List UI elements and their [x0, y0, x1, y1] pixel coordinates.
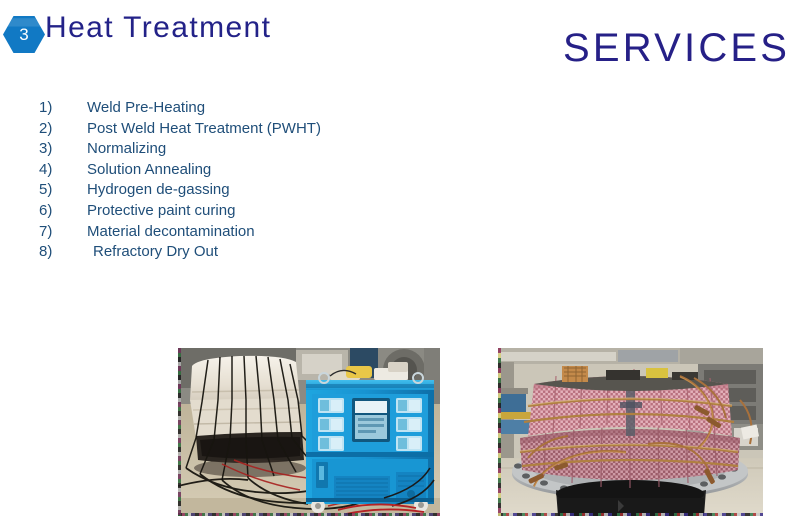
list-item-label: Protective paint curing: [87, 202, 235, 219]
list-item-marker: 4): [39, 161, 87, 178]
list-item-marker: 1): [39, 99, 87, 116]
list-item-label: Material decontamination: [87, 223, 255, 240]
list-item-label: Weld Pre-Heating: [87, 99, 205, 116]
list-item: 7)Material decontamination: [0, 223, 470, 244]
photo-ceramic-pads: [498, 348, 763, 516]
photo-pwht-unit: [178, 348, 440, 516]
list-item-marker: 6): [39, 202, 87, 219]
photo-pwht-unit-artwork: [178, 348, 440, 516]
list-item-label: Post Weld Heat Treatment (PWHT): [87, 120, 321, 137]
section-number-badge: 3: [3, 16, 45, 53]
list-item: 4)Solution Annealing: [0, 161, 470, 182]
list-item: 1)Weld Pre-Heating: [0, 99, 470, 120]
list-item: 3)Normalizing: [0, 140, 470, 161]
list-item-marker: 2): [39, 120, 87, 137]
list-item-marker: 7): [39, 223, 87, 240]
list-item-label: Normalizing: [87, 140, 166, 157]
services-list: 1)Weld Pre-Heating2)Post Weld Heat Treat…: [0, 99, 470, 264]
list-item-marker: 8): [39, 243, 87, 260]
list-item-label: Refractory Dry Out: [87, 243, 218, 260]
photo-ceramic-pads-artwork: [498, 348, 763, 516]
list-item-label: Solution Annealing: [87, 161, 211, 178]
list-item-marker: 5): [39, 181, 87, 198]
list-item: 8)Refractory Dry Out: [0, 243, 470, 264]
list-item: 6)Protective paint curing: [0, 202, 470, 223]
page-title: Heat Treatment: [45, 11, 271, 45]
section-number-label: 3: [3, 16, 45, 53]
list-item: 2)Post Weld Heat Treatment (PWHT): [0, 120, 470, 141]
list-item-marker: 3): [39, 140, 87, 157]
list-item: 5)Hydrogen de-gassing: [0, 181, 470, 202]
list-item-label: Hydrogen de-gassing: [87, 181, 230, 198]
slide-header: 3 Heat Treatment SERVICES: [0, 0, 800, 90]
services-heading: SERVICES: [563, 26, 790, 71]
slide-canvas: 3 Heat Treatment SERVICES 1)Weld Pre-Hea…: [0, 0, 800, 516]
